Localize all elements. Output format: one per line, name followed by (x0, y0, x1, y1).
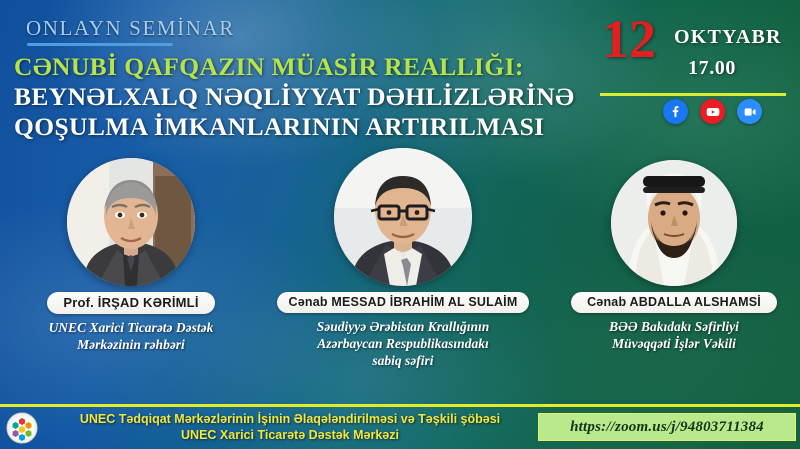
title-line-3: QOŞULMA İMKANLARININ ARTIRILMASI (14, 112, 634, 142)
speaker-role-2-line-3: sabiq səfiri (262, 352, 544, 369)
speaker-card-1: Prof. İRŞAD KƏRİMLİ UNEC Xarici Ticarətə… (0, 158, 262, 353)
speaker-name-3: Cənab ABDALLA ALSHAMSİ (571, 292, 777, 313)
zoom-link[interactable]: https://zoom.us/j/94803711384 (538, 413, 796, 441)
portrait-speaker-2 (334, 148, 472, 286)
portrait-speaker-3 (611, 160, 737, 286)
speaker-role-3-line-1: BƏƏ Bakıdakı Səfirliyi (548, 318, 800, 335)
speaker-role-2-line-1: Səudiyyə Ərəbistan Krallığının (262, 318, 544, 335)
date-time: 17.00 (688, 57, 736, 80)
youtube-icon[interactable] (700, 99, 725, 124)
date-day: 12 (602, 12, 656, 66)
speaker-role-2: Səudiyyə Ərəbistan Krallığının Azərbayca… (262, 318, 544, 369)
webinar-poster: ONLAYN SEMİNAR CƏNUBİ QAFQAZIN MÜASİR RE… (0, 0, 800, 449)
unec-hexagon-logo-icon (6, 412, 38, 444)
zoom-icon[interactable] (737, 99, 762, 124)
title-line-2: BEYNƏLXALQ NƏQLİYYAT DƏHLİZLƏRİNƏ (14, 82, 634, 112)
date-underline (600, 93, 786, 96)
date-month: OKTYABR (674, 26, 782, 49)
footer-organizer: UNEC Tədqiqat Mərkəzlərinin İşinin Əlaqə… (42, 411, 538, 443)
facebook-icon[interactable] (663, 99, 688, 124)
speaker-name-1: Prof. İRŞAD KƏRİMLİ (47, 292, 214, 314)
speaker-role-3-line-2: Müvəqqəti İşlər Vəkili (548, 335, 800, 352)
kicker-label: ONLAYN SEMİNAR (26, 16, 235, 41)
speaker-role-3: BƏƏ Bakıdakı Səfirliyi Müvəqqəti İşlər V… (548, 318, 800, 352)
kicker-underline (27, 43, 173, 46)
speaker-role-1-line-2: Mərkəzinin rəhbəri (0, 336, 262, 353)
speaker-card-3: Cənab ABDALLA ALSHAMSİ BƏƏ Bakıdakı Səfi… (548, 160, 800, 352)
title-line-1: CƏNUBİ QAFQAZIN MÜASİR REALLIĞI: (14, 52, 634, 82)
speaker-card-2: Cənab MESSAD İBRAHİM AL SULAİM Səudiyyə … (262, 148, 544, 369)
page-title: CƏNUBİ QAFQAZIN MÜASİR REALLIĞI: BEYNƏLX… (14, 52, 634, 142)
footer-line-2: UNEC Xarici Ticarətə Dəstək Mərkəzi (42, 427, 538, 443)
speaker-name-2: Cənab MESSAD İBRAHİM AL SULAİM (277, 292, 530, 313)
footer-bar: UNEC Tədqiqat Mərkəzlərinin İşinin Əlaqə… (0, 406, 800, 449)
speaker-role-1-line-1: UNEC Xarici Ticarətə Dəstək (0, 319, 262, 336)
footer-line-1: UNEC Tədqiqat Mərkəzlərinin İşinin Əlaqə… (42, 411, 538, 427)
speaker-role-1: UNEC Xarici Ticarətə Dəstək Mərkəzinin r… (0, 319, 262, 353)
speaker-role-2-line-2: Azərbaycan Respublikasındakı (262, 335, 544, 352)
date-block: 12 OKTYABR 17.00 (596, 14, 786, 92)
social-links (663, 99, 762, 124)
portrait-speaker-1 (67, 158, 195, 286)
